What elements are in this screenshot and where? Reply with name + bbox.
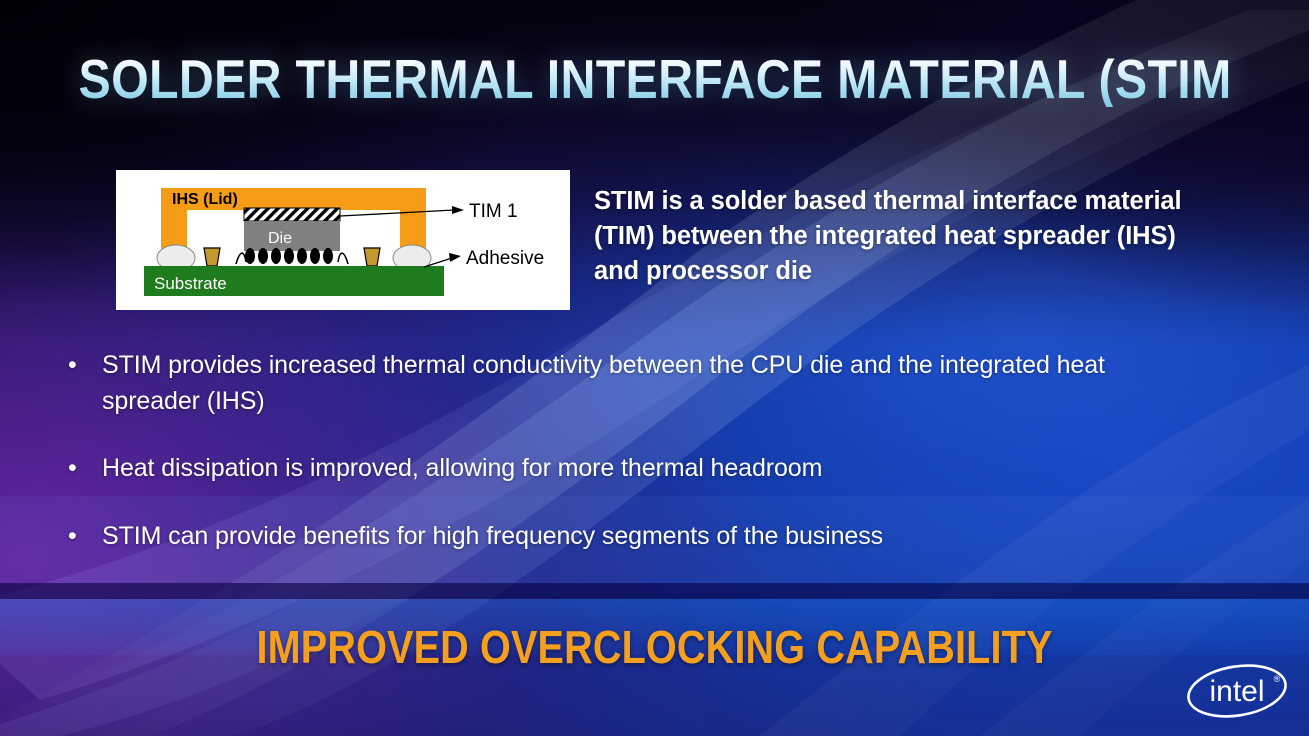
bullet-marker-icon: • <box>68 519 102 555</box>
bullet-item-2: • Heat dissipation is improved, allowing… <box>68 451 1198 487</box>
bullet-marker-icon: • <box>68 451 102 487</box>
intel-logo-wordmark: intel <box>1209 675 1264 708</box>
substrate-label: Substrate <box>154 274 227 293</box>
footer-headline: IMPROVED OVERCLOCKING CAPABILITY <box>92 624 1218 670</box>
registered-trademark-icon: ® <box>1274 674 1281 684</box>
ihs-label: IHS (Lid) <box>172 191 238 208</box>
bullet-item-3: • STIM can provide benefits for high fre… <box>68 519 1198 555</box>
adhesive-label: Adhesive <box>466 248 544 269</box>
bullet-list: • STIM provides increased thermal conduc… <box>68 348 1198 586</box>
cpu-cross-section-diagram: IHS (Lid) Die Substrate TIM 1 Adhesive <box>116 170 570 310</box>
bullet-text-2: Heat dissipation is improved, allowing f… <box>102 451 1198 487</box>
tim1-layer-shape <box>244 208 340 221</box>
bullet-text-1: STIM provides increased thermal conducti… <box>102 348 1198 419</box>
intel-logo: intel ® <box>1181 662 1293 720</box>
bullet-item-1: • STIM provides increased thermal conduc… <box>68 348 1198 419</box>
lead-paragraph: STIM is a solder based thermal interface… <box>594 184 1219 289</box>
die-label: Die <box>268 230 292 247</box>
bullet-marker-icon: • <box>68 348 102 384</box>
tim1-label: TIM 1 <box>469 201 518 222</box>
slide-title: SOLDER THERMAL INTERFACE MATERIAL (STIM) <box>79 52 1231 107</box>
bullet-text-3: STIM can provide benefits for high frequ… <box>102 519 1198 555</box>
presentation-slide: SOLDER THERMAL INTERFACE MATERIAL (STIM) <box>0 0 1309 736</box>
